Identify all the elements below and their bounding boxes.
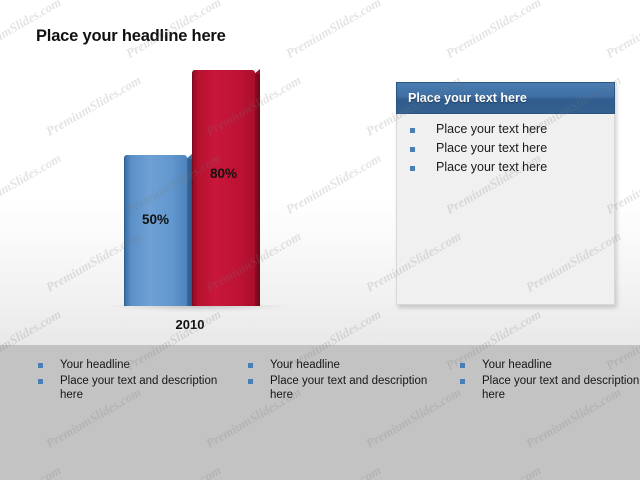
watermark-text: PremiumSlides.com [283,0,384,62]
list-item-label: Place your text here [436,160,547,174]
bar-chart: 50% 80% 2010 [100,60,290,345]
square-bullet-icon [248,363,253,368]
bar-series-2-side [255,73,260,306]
chart-baseline-shadow [110,305,285,312]
list-item[interactable]: Place your text and description here [248,374,428,402]
list-item-label: Place your text here [436,122,547,136]
page-title: Place your headline here [36,27,226,46]
slide-canvas: Place your headline here 50% 80% 2010 Pl… [0,0,640,480]
bar-series-2-value-label: 80% [192,166,255,181]
watermark-text: PremiumSlides.com [0,150,64,217]
text-panel-header-label: Place your text here [408,91,527,105]
list-item[interactable]: Place your text and description here [460,374,640,402]
bottom-band: Your headline Place your text and descri… [0,345,640,480]
text-panel-list: Place your text here Place your text her… [397,119,614,176]
list-item[interactable]: Your headline [248,358,428,372]
list-item[interactable]: Your headline [38,358,218,372]
watermark-text: PremiumSlides.com [443,0,544,62]
column-headline: Your headline [270,358,340,372]
list-item[interactable]: Place your text here [397,138,614,157]
column-description: Place your text and description here [60,374,218,402]
list-item[interactable]: Place your text here [397,157,614,176]
bottom-column-1: Your headline Place your text and descri… [38,358,218,404]
column-headline: Your headline [482,358,552,372]
bar-series-2[interactable]: 80% [192,70,255,306]
list-item[interactable]: Place your text and description here [38,374,218,402]
chart-category-label: 2010 [100,317,280,332]
list-item-label: Place your text here [436,141,547,155]
column-description: Place your text and description here [270,374,428,402]
square-bullet-icon [38,379,43,384]
bottom-column-2: Your headline Place your text and descri… [248,358,428,404]
square-bullet-icon [410,128,415,133]
bar-series-1[interactable]: 50% [124,155,187,306]
square-bullet-icon [410,147,415,152]
square-bullet-icon [410,166,415,171]
column-headline: Your headline [60,358,130,372]
bar-series-1-value-label: 50% [124,212,187,227]
bar-series-1-face [124,155,187,306]
list-item[interactable]: Place your text here [397,119,614,138]
square-bullet-icon [38,363,43,368]
bottom-column-3: Your headline Place your text and descri… [460,358,640,404]
square-bullet-icon [248,379,253,384]
text-panel-header: Place your text here [396,82,615,114]
bar-series-2-face [192,70,255,306]
watermark-text: PremiumSlides.com [603,0,640,62]
text-panel: Place your text here Place your text her… [396,82,615,305]
watermark-text: PremiumSlides.com [283,150,384,217]
list-item[interactable]: Your headline [460,358,640,372]
column-description: Place your text and description here [482,374,640,402]
square-bullet-icon [460,363,465,368]
square-bullet-icon [460,379,465,384]
